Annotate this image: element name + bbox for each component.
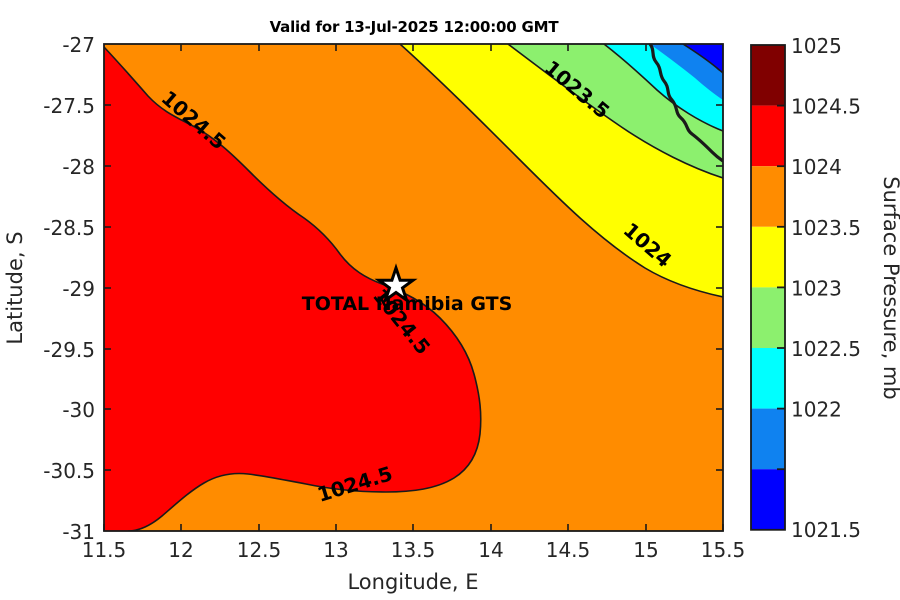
colorbar-swatch-1024.5 <box>751 106 785 167</box>
contour-plot-svg: 11.5 12 12.5 13 13.5 14 14.5 15 15.5 -27… <box>0 0 900 600</box>
colorbar-swatch-1023 <box>751 287 785 348</box>
x-axis-label: Longitude, E <box>347 570 478 594</box>
y-tick-label: -28.5 <box>43 216 95 240</box>
x-tick-label: 12 <box>168 538 193 562</box>
x-tick-label: 14.5 <box>546 538 591 562</box>
colorbar-swatch-1024 <box>751 166 785 227</box>
y-axis-label: Latitude, S <box>3 231 27 344</box>
colorbar-tick-label: 1024.5 <box>791 95 861 119</box>
x-tick-label: 14 <box>478 538 503 562</box>
y-tick-label: -30 <box>62 398 95 422</box>
colorbar: 1025 1024.5 1024 1023.5 1023 1022.5 1022… <box>751 34 900 542</box>
colorbar-axis-label: Surface Pressure, mb <box>879 176 900 399</box>
colorbar-swatch-1021.5 <box>751 469 785 530</box>
x-tick-label: 13.5 <box>391 538 436 562</box>
colorbar-tick-label: 1023.5 <box>791 216 861 240</box>
colorbar-tick-label: 1023 <box>791 276 842 300</box>
colorbar-swatch-1025 <box>751 45 785 106</box>
colorbar-swatch-1023.5 <box>751 227 785 288</box>
colorbar-swatch-1022.5 <box>751 348 785 409</box>
x-tick-label: 15.5 <box>701 538 746 562</box>
y-tick-label: -31 <box>62 520 95 544</box>
y-tick-label: -29 <box>62 277 95 301</box>
station-label: TOTAL Namibia GTS <box>302 293 513 315</box>
figure-canvas: Valid for 13-Jul-2025 12:00:00 GMT <box>0 0 900 600</box>
colorbar-tick-label: 1025 <box>791 34 842 58</box>
colorbar-tick-label: 1024 <box>791 155 842 179</box>
x-tick-label: 12.5 <box>237 538 282 562</box>
y-tick-label: -30.5 <box>43 459 95 483</box>
x-tick-labels: 11.5 12 12.5 13 13.5 14 14.5 15 15.5 <box>82 538 746 562</box>
y-tick-labels: -27 -27.5 -28 -28.5 -29 -29.5 -30 -30.5 … <box>43 33 95 544</box>
colorbar-tick-label: 1022.5 <box>791 337 861 361</box>
y-tick-label: -27 <box>62 33 95 57</box>
colorbar-tick-labels: 1025 1024.5 1024 1023.5 1023 1022.5 1022… <box>791 34 861 542</box>
colorbar-swatch-1022 <box>751 409 785 470</box>
colorbar-tick-label: 1021.5 <box>791 518 861 542</box>
x-tick-label: 15 <box>633 538 658 562</box>
colorbar-tick-label: 1022 <box>791 398 842 422</box>
y-tick-label: -28 <box>62 155 95 179</box>
x-tick-label: 13 <box>323 538 348 562</box>
y-tick-label: -29.5 <box>43 338 95 362</box>
y-tick-label: -27.5 <box>43 94 95 118</box>
